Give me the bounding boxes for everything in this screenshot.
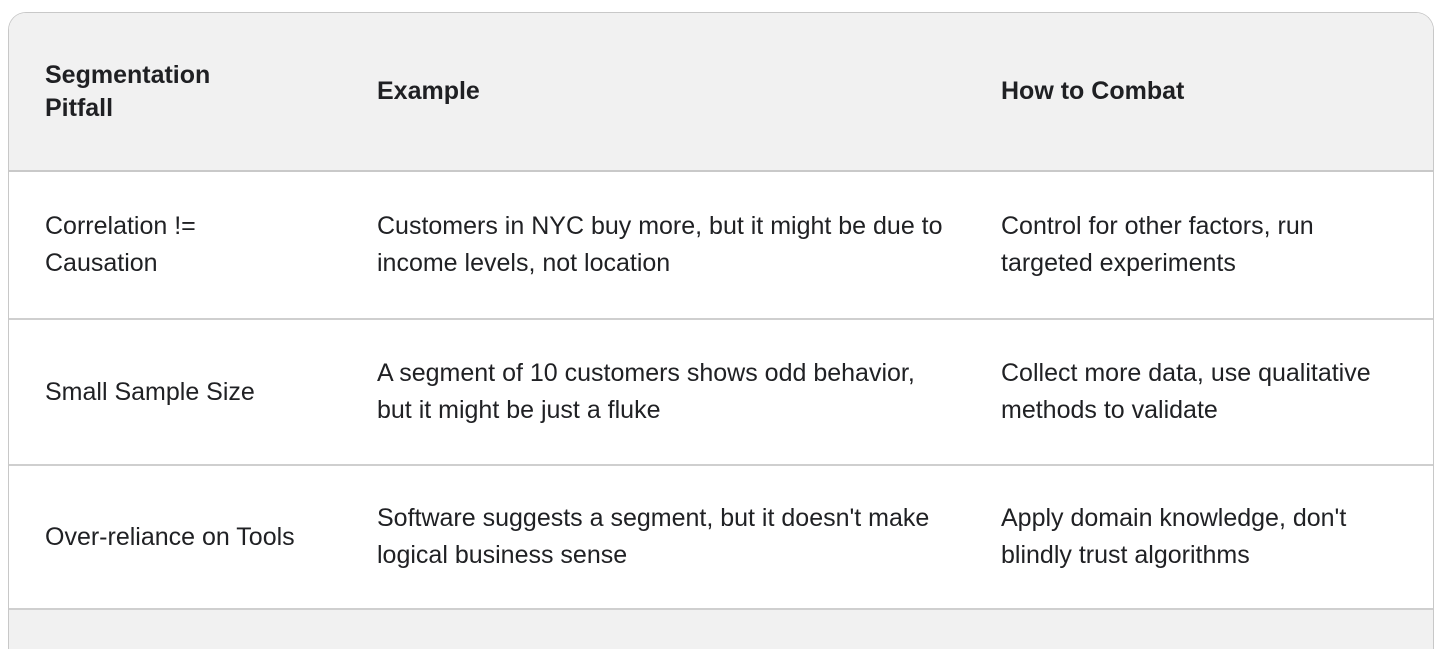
column-header-pitfall: Segmentation Pitfall bbox=[9, 13, 353, 171]
cell-example: A segment of 10 customers shows odd beha… bbox=[353, 319, 977, 465]
table-row-partial bbox=[9, 609, 1433, 649]
cell-partial bbox=[977, 609, 1433, 649]
cell-pitfall: Over-reliance on Tools bbox=[9, 465, 353, 609]
cell-pitfall-text: Correlation != Causation bbox=[45, 208, 310, 282]
column-header-example: Example bbox=[353, 13, 977, 171]
table-body: Correlation != Causation Customers in NY… bbox=[9, 171, 1433, 649]
table-row: Over-reliance on Tools Software suggests… bbox=[9, 465, 1433, 609]
page-root: Segmentation Pitfall Example How to Comb… bbox=[0, 0, 1444, 624]
table-header-row: Segmentation Pitfall Example How to Comb… bbox=[9, 13, 1433, 171]
cell-combat: Apply domain knowledge, don't blindly tr… bbox=[977, 465, 1433, 609]
cell-pitfall-text: Small Sample Size bbox=[45, 374, 310, 411]
cell-pitfall: Small Sample Size bbox=[9, 319, 353, 465]
column-header-combat: How to Combat bbox=[977, 13, 1433, 171]
pitfall-table-card: Segmentation Pitfall Example How to Comb… bbox=[8, 12, 1434, 649]
cell-example-text: Software suggests a segment, but it does… bbox=[377, 500, 953, 574]
table-header: Segmentation Pitfall Example How to Comb… bbox=[9, 13, 1433, 171]
cell-combat-text: Collect more data, use qualitative metho… bbox=[1001, 355, 1409, 429]
cell-example-text: A segment of 10 customers shows odd beha… bbox=[377, 355, 953, 429]
cell-partial bbox=[9, 609, 353, 649]
column-header-combat-label: How to Combat bbox=[1001, 75, 1409, 108]
cell-pitfall: Correlation != Causation bbox=[9, 171, 353, 319]
segmentation-pitfalls-table: Segmentation Pitfall Example How to Comb… bbox=[9, 13, 1433, 649]
cell-pitfall-text: Over-reliance on Tools bbox=[45, 519, 310, 556]
cell-combat: Control for other factors, run targeted … bbox=[977, 171, 1433, 319]
column-header-pitfall-label: Segmentation Pitfall bbox=[45, 59, 240, 125]
column-header-example-label: Example bbox=[377, 75, 953, 108]
cell-combat-text: Control for other factors, run targeted … bbox=[1001, 208, 1409, 282]
cell-example: Customers in NYC buy more, but it might … bbox=[353, 171, 977, 319]
cell-combat: Collect more data, use qualitative metho… bbox=[977, 319, 1433, 465]
cell-partial bbox=[353, 609, 977, 649]
cell-combat-text: Apply domain knowledge, don't blindly tr… bbox=[1001, 500, 1409, 574]
cell-example-text: Customers in NYC buy more, but it might … bbox=[377, 208, 953, 282]
table-row: Small Sample Size A segment of 10 custom… bbox=[9, 319, 1433, 465]
cell-example: Software suggests a segment, but it does… bbox=[353, 465, 977, 609]
table-row: Correlation != Causation Customers in NY… bbox=[9, 171, 1433, 319]
